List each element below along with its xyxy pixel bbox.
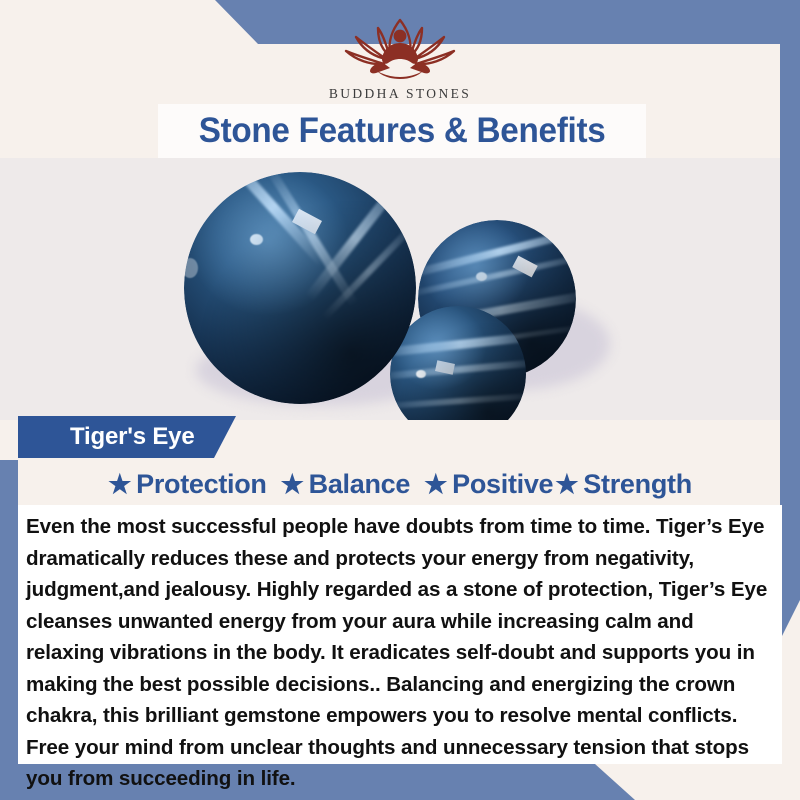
lotus-meditation-icon xyxy=(320,10,480,84)
poster-canvas: BUDDHA STONES Stone Features & Benefits xyxy=(0,0,800,800)
star-icon: ★ xyxy=(281,471,304,497)
description-text: Even the most successful people have dou… xyxy=(26,511,770,795)
benefit-label: Strength xyxy=(583,469,692,500)
stone-name-label: Tiger's Eye xyxy=(70,423,194,451)
benefit-item: ★ Strength xyxy=(555,469,692,500)
star-icon: ★ xyxy=(108,471,131,497)
gemstone-bead xyxy=(184,172,416,404)
benefits-row: ★ Protection ★ Balance ★ Positive ★ Stre… xyxy=(0,462,800,506)
benefit-item: ★ Protection xyxy=(108,469,267,500)
benefit-label: Protection xyxy=(136,469,267,500)
gemstone-photo xyxy=(0,158,800,420)
benefit-label: Positive xyxy=(452,469,553,500)
benefit-item: ★ Balance xyxy=(281,469,410,500)
stone-name-banner: Tiger's Eye xyxy=(18,416,236,458)
star-icon: ★ xyxy=(555,471,578,497)
benefit-item: ★ Positive xyxy=(424,469,553,500)
star-icon: ★ xyxy=(424,471,447,497)
page-title: Stone Features & Benefits xyxy=(199,111,606,151)
title-band: Stone Features & Benefits xyxy=(158,104,646,158)
brand-logo: BUDDHA STONES xyxy=(0,10,800,102)
brand-name: BUDDHA STONES xyxy=(0,86,800,102)
benefit-label: Balance xyxy=(309,469,410,500)
description-panel: Even the most successful people have dou… xyxy=(18,505,782,764)
right-blue-strip xyxy=(780,0,800,800)
